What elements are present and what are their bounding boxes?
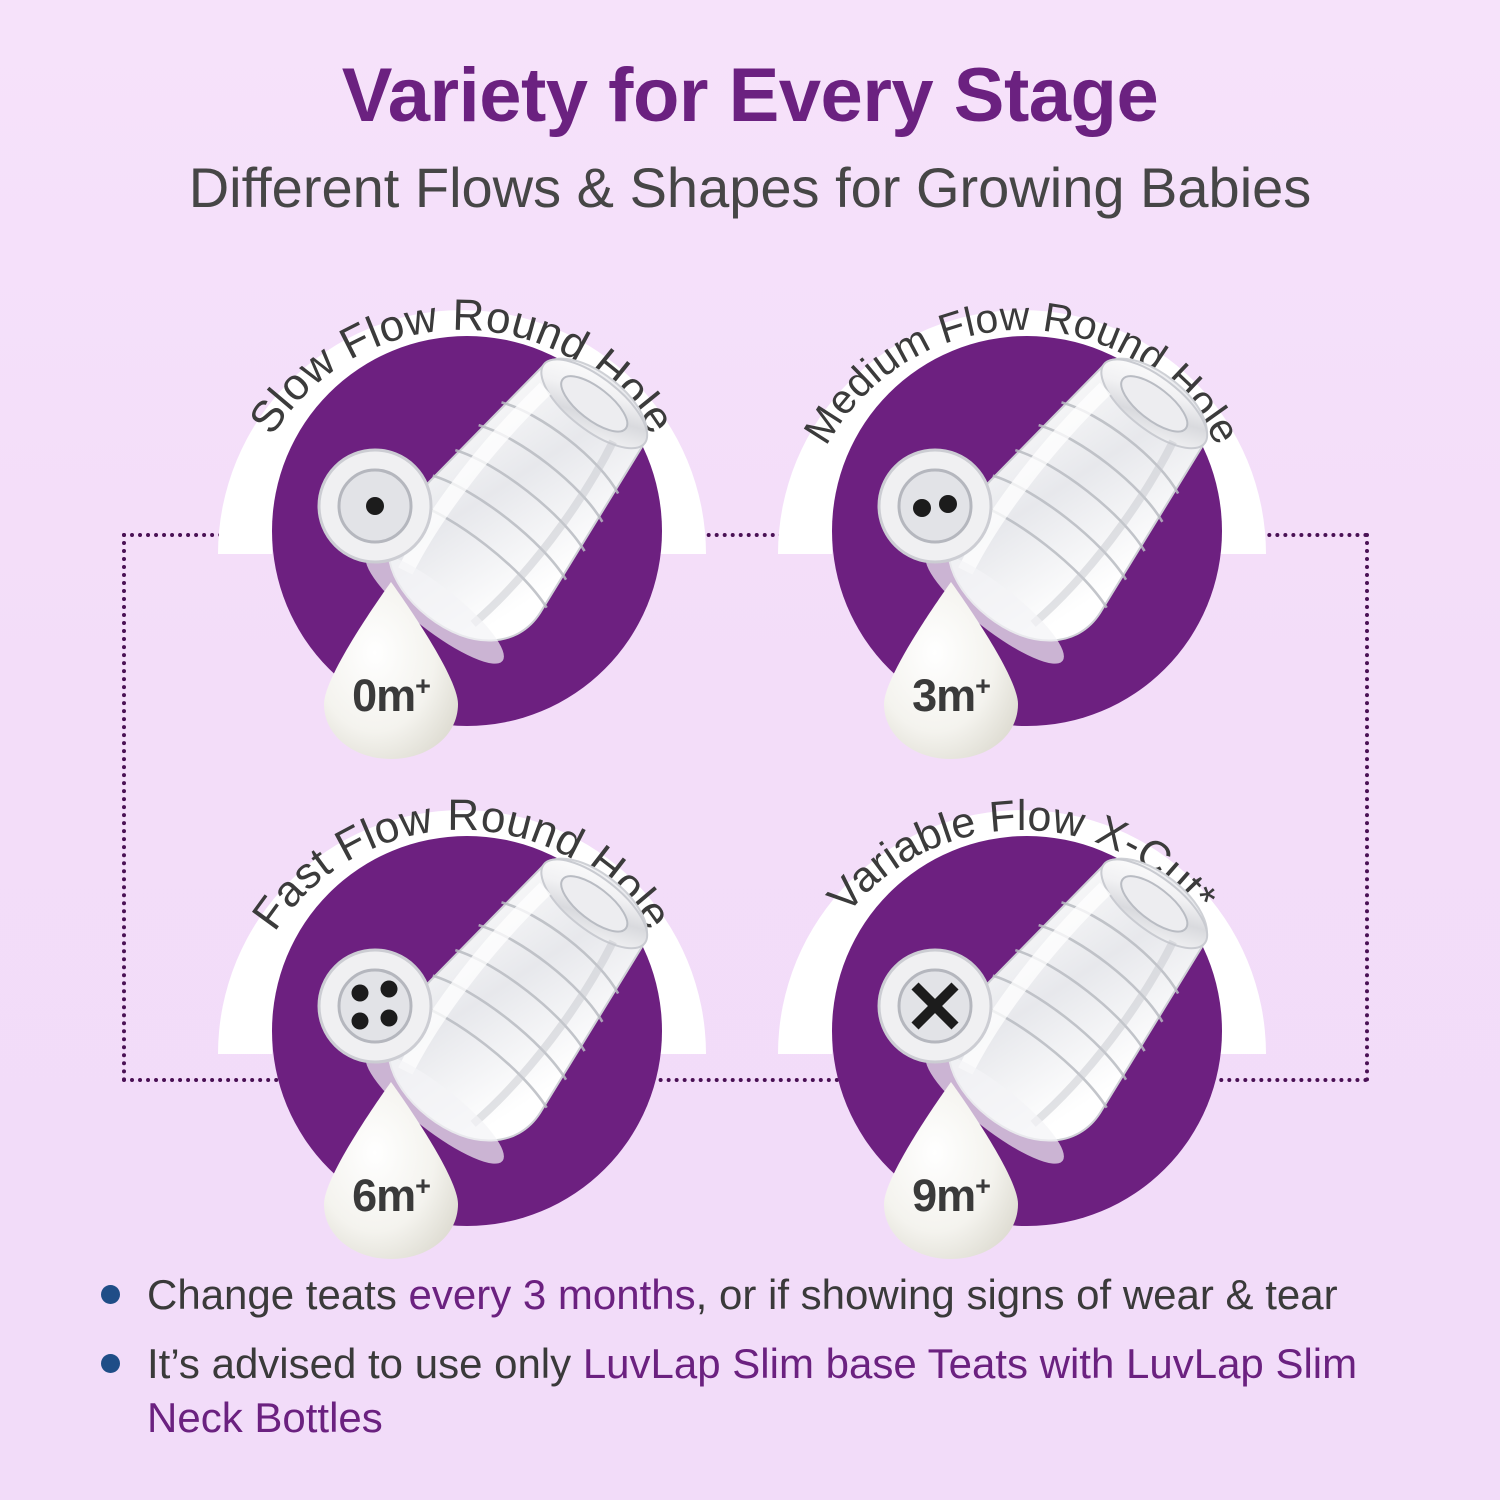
list-item: Change teats every 3 months, or if showi…	[95, 1268, 1425, 1323]
teat-hole-face	[319, 950, 431, 1062]
age-badge: 9m+	[876, 1078, 1026, 1263]
age-badge: 6m+	[316, 1078, 466, 1263]
list-item: It’s advised to use only LuvLap Slim bas…	[95, 1337, 1425, 1446]
teat-panel[interactable]: Slow Flow Round Hole	[230, 288, 700, 758]
teat-hole-face	[879, 950, 991, 1062]
note-plain: It’s advised to use only	[147, 1340, 583, 1387]
round-hole	[366, 497, 384, 515]
page-subtitle: Different Flows & Shapes for Growing Bab…	[0, 160, 1500, 216]
round-hole	[939, 495, 957, 513]
teat-hole-face	[879, 450, 991, 562]
page-title: Variety for Every Stage	[0, 58, 1500, 134]
age-plus: +	[415, 671, 430, 701]
teat-panel[interactable]: Fast Flow Round Hole	[230, 788, 700, 1258]
age-badge: 3m+	[876, 578, 1026, 763]
age-label: 0m+	[316, 670, 466, 722]
note-text: Change teats every 3 months, or if showi…	[147, 1268, 1425, 1323]
note-highlight: every 3 months	[409, 1271, 696, 1318]
note-plain: Change teats	[147, 1271, 409, 1318]
note-plain: , or if showing signs of wear & tear	[696, 1271, 1338, 1318]
round-hole	[381, 1010, 398, 1027]
bullet-icon	[101, 1354, 120, 1373]
round-hole	[352, 1013, 369, 1030]
age-label: 9m+	[876, 1170, 1026, 1222]
age-plus: +	[975, 671, 990, 701]
age-value: 6m	[352, 1170, 415, 1221]
age-badge: 0m+	[316, 578, 466, 763]
header: Variety for Every Stage Different Flows …	[0, 0, 1500, 216]
round-hole	[381, 981, 398, 998]
age-plus: +	[415, 1171, 430, 1201]
teat-hole-face	[319, 450, 431, 562]
notes-list: Change teats every 3 months, or if showi…	[95, 1268, 1425, 1460]
age-value: 3m	[912, 670, 975, 721]
age-label: 3m+	[876, 670, 1026, 722]
bullet-icon	[101, 1285, 120, 1304]
age-value: 0m	[352, 670, 415, 721]
age-plus: +	[975, 1171, 990, 1201]
note-text: It’s advised to use only LuvLap Slim bas…	[147, 1337, 1425, 1446]
round-hole	[352, 985, 369, 1002]
teat-variants-grid: Slow Flow Round Hole	[0, 288, 1500, 1268]
age-label: 6m+	[316, 1170, 466, 1222]
age-value: 9m	[912, 1170, 975, 1221]
teat-panel[interactable]: Variable Flow X-Cut*	[790, 788, 1260, 1258]
round-hole	[913, 499, 931, 517]
teat-panel[interactable]: Medium Flow Round Hole	[790, 288, 1260, 758]
